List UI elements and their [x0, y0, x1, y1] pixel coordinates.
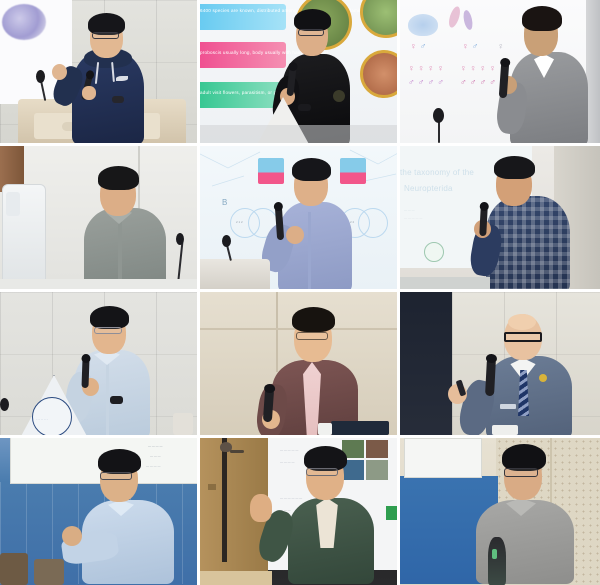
gooseneck-mic-head — [36, 70, 45, 83]
open-hand — [250, 494, 272, 522]
institution-logo — [424, 242, 444, 262]
hair — [494, 156, 535, 179]
podium-emblem — [32, 397, 72, 435]
door-plate — [208, 484, 216, 490]
slide-bar-2 — [200, 42, 286, 68]
desk-microphone-head — [488, 537, 506, 585]
fist — [62, 526, 82, 546]
photo-collage-grid: 6400 species are known, distributed amon… — [0, 0, 600, 585]
collage-cell-r2c1[interactable] — [0, 146, 200, 292]
glasses — [100, 472, 132, 480]
door-frame — [222, 438, 227, 562]
slide-panel-right — [340, 158, 366, 184]
glasses — [306, 468, 338, 476]
sleeve-patch — [333, 90, 345, 102]
slide-symbol-row-offspring-left: ♀♀♀♀ — [408, 64, 444, 73]
lapel-pin — [539, 374, 547, 382]
photo-r1c2: 6400 species are known, distributed amon… — [200, 0, 397, 143]
hair — [502, 444, 546, 471]
hair — [294, 9, 331, 31]
photo-r3c1: · · · · · · · · — [0, 292, 197, 435]
baseboard — [200, 571, 272, 585]
slide-blob — [2, 4, 46, 40]
whiteboard-writing-3: — — — — — [146, 464, 161, 468]
collage-cell-r4c2[interactable]: — — — — — — — — — — — — — — — — — — — [200, 438, 400, 585]
hand — [52, 64, 67, 80]
handheld-microphone — [81, 358, 89, 388]
hair — [98, 449, 141, 474]
wall-seam-1 — [276, 292, 278, 372]
glasses — [296, 332, 328, 340]
mic-indicator — [492, 549, 497, 559]
podium — [200, 259, 270, 289]
slide-text-3: — — — — — — — [280, 496, 302, 500]
slide-affiliation-line: — — — — — — [404, 216, 422, 220]
podium-emblem-text: · · · · · · · · — [36, 418, 48, 421]
glasses — [92, 32, 119, 39]
hair — [292, 158, 331, 181]
photo-r3c3 — [400, 292, 600, 435]
photo-r2c3: the taxonomy of the Neuropterida — — — —… — [400, 146, 600, 289]
dispenser-panel — [6, 192, 20, 216]
photo-r2c2: B 2 1 2 2 2 — [200, 146, 397, 289]
photo-r1c1 — [0, 0, 197, 143]
hand — [286, 226, 304, 244]
photo-r1c3: ♀♂ ♀♂♀ ♀♀♀♀ ♀♀♀♀× ♂♂♂♂ ♂♂♂♂ — [400, 0, 600, 143]
mic-grip — [82, 86, 96, 100]
watch — [112, 96, 124, 103]
glasses — [94, 327, 122, 334]
glasses — [504, 468, 538, 477]
shirt-placket — [106, 358, 109, 435]
slide-title-line-1: the taxonomy of the — [400, 168, 474, 177]
chair-2 — [34, 559, 64, 585]
laptop — [331, 421, 389, 435]
whiteboard-writing-2: — — — — [150, 454, 161, 458]
slide-photo-4 — [366, 460, 388, 480]
microphone-head — [176, 233, 184, 245]
slide-caption-right: 2 2 — [350, 220, 354, 224]
wall-edge — [586, 0, 600, 143]
photo-r4c3 — [400, 438, 600, 585]
watch — [298, 104, 311, 111]
gooseneck-mic-head — [222, 235, 231, 247]
collage-cell-r4c3[interactable] — [400, 438, 600, 585]
chair — [173, 413, 193, 435]
slide-symbol-row-cross-right: ♂♂♂♂ — [460, 78, 496, 87]
watch — [110, 396, 123, 404]
photo-r3c2 — [200, 292, 397, 435]
gooseneck-mic-head — [0, 398, 9, 411]
photo-r2c1 — [0, 146, 197, 289]
collage-cell-r3c2[interactable] — [200, 292, 400, 438]
pocket-square — [500, 404, 516, 409]
slide-title-line-2: Neuropterida — [404, 184, 453, 193]
slide-butterfly — [408, 14, 438, 36]
photo-r4c1: — — — — — — — — — — — — [0, 438, 197, 585]
collage-cell-r1c1[interactable] — [0, 0, 200, 146]
hair — [90, 306, 129, 329]
photo-r4c2: — — — — — — — — — — — — — — — — — — — [200, 438, 397, 585]
table-edge — [400, 277, 490, 289]
collage-cell-r4c1[interactable]: — — — — — — — — — — — — [0, 438, 200, 585]
collage-cell-r3c1[interactable]: · · · · · · · · — [0, 292, 200, 438]
hair — [98, 166, 139, 190]
slide-author-line: — — — — [404, 208, 415, 212]
slide-panel-left — [258, 158, 284, 184]
slide-text-2: — — — — — [280, 460, 295, 464]
door-handle — [230, 450, 244, 453]
table-item — [492, 425, 518, 435]
gooseneck-mic-head — [433, 108, 444, 123]
slide-label-b: B — [222, 198, 228, 207]
slide-venn-4 — [358, 208, 388, 238]
slide-symbol-row-parents-right: ♀♂♀ — [462, 42, 504, 51]
glasses-thick — [504, 332, 542, 342]
chair-1 — [0, 553, 28, 585]
whiteboard-writing-1: — — — — — [148, 444, 163, 448]
collage-cell-r1c3[interactable]: ♀♂ ♀♂♀ ♀♀♀♀ ♀♀♀♀× ♂♂♂♂ ♂♂♂♂ — [400, 0, 600, 146]
hair — [522, 6, 562, 31]
glasses — [298, 29, 324, 36]
scalp-highlight — [508, 314, 536, 330]
slide-photo-2 — [366, 440, 388, 458]
cup — [318, 423, 332, 435]
brand-logo — [116, 76, 128, 81]
table-edge — [0, 279, 197, 289]
slide-green-box — [386, 506, 397, 520]
collage-cell-r2c3[interactable]: the taxonomy of the Neuropterida — — — —… — [400, 146, 600, 292]
whiteboard — [404, 438, 482, 478]
torso — [84, 208, 166, 289]
collage-cell-r3c3[interactable] — [400, 292, 600, 438]
dark-screen — [400, 292, 452, 435]
collage-cell-r1c2[interactable]: 6400 species are known, distributed amon… — [200, 0, 400, 146]
lectern-shadow — [200, 125, 397, 143]
slide-symbol-row-parents-left: ♀♂ — [410, 42, 427, 51]
slide-symbol-row-cross-left: ♂♂♂♂ — [408, 78, 444, 87]
shirt-placket — [308, 212, 311, 289]
slide-text-1: — — — — — — [280, 448, 298, 452]
slide-caption: 2 1 2 — [236, 220, 243, 224]
collage-cell-r2c2[interactable]: B 2 1 2 2 2 — [200, 146, 400, 292]
hair — [292, 307, 335, 332]
